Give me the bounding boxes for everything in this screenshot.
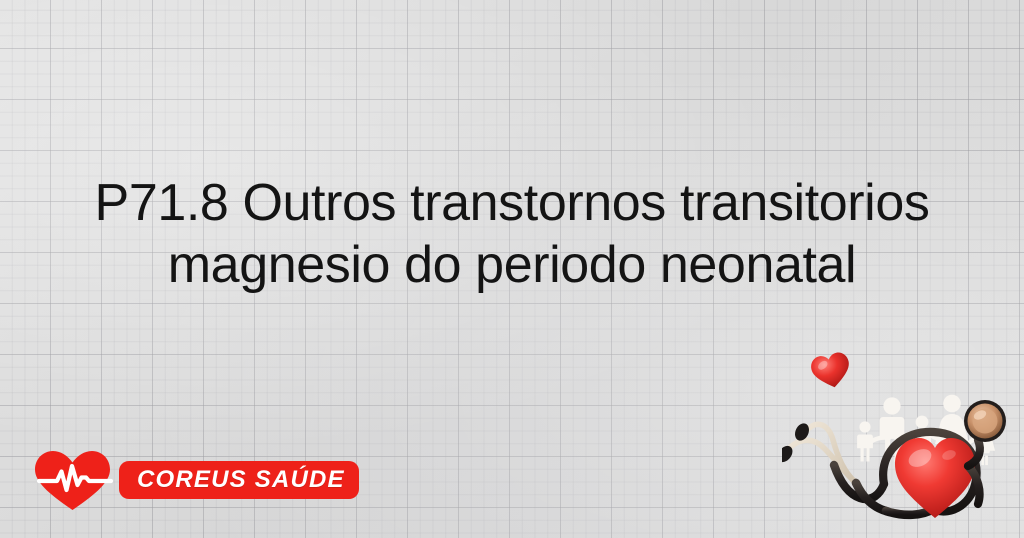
social-card: P71.8 Outros transtornos transitorios ma…: [0, 0, 1024, 538]
stethoscope-chestpiece: [964, 400, 1006, 442]
title-line-2: magnesio do periodo neonatal: [28, 234, 996, 296]
page-title: P71.8 Outros transtornos transitorios ma…: [0, 172, 1024, 296]
medical-health-family-illustration: [782, 344, 1024, 538]
heart-with-ecg-pulse-icon: [33, 449, 113, 511]
brand-name-label: COREUS SAÚDE: [137, 466, 345, 494]
brand-logo[interactable]: COREUS SAÚDE: [33, 449, 353, 511]
brand-name-badge: COREUS SAÚDE: [119, 461, 359, 499]
title-line-1: P71.8 Outros transtornos transitorios: [28, 172, 996, 234]
small-heart-icon: [809, 351, 853, 392]
